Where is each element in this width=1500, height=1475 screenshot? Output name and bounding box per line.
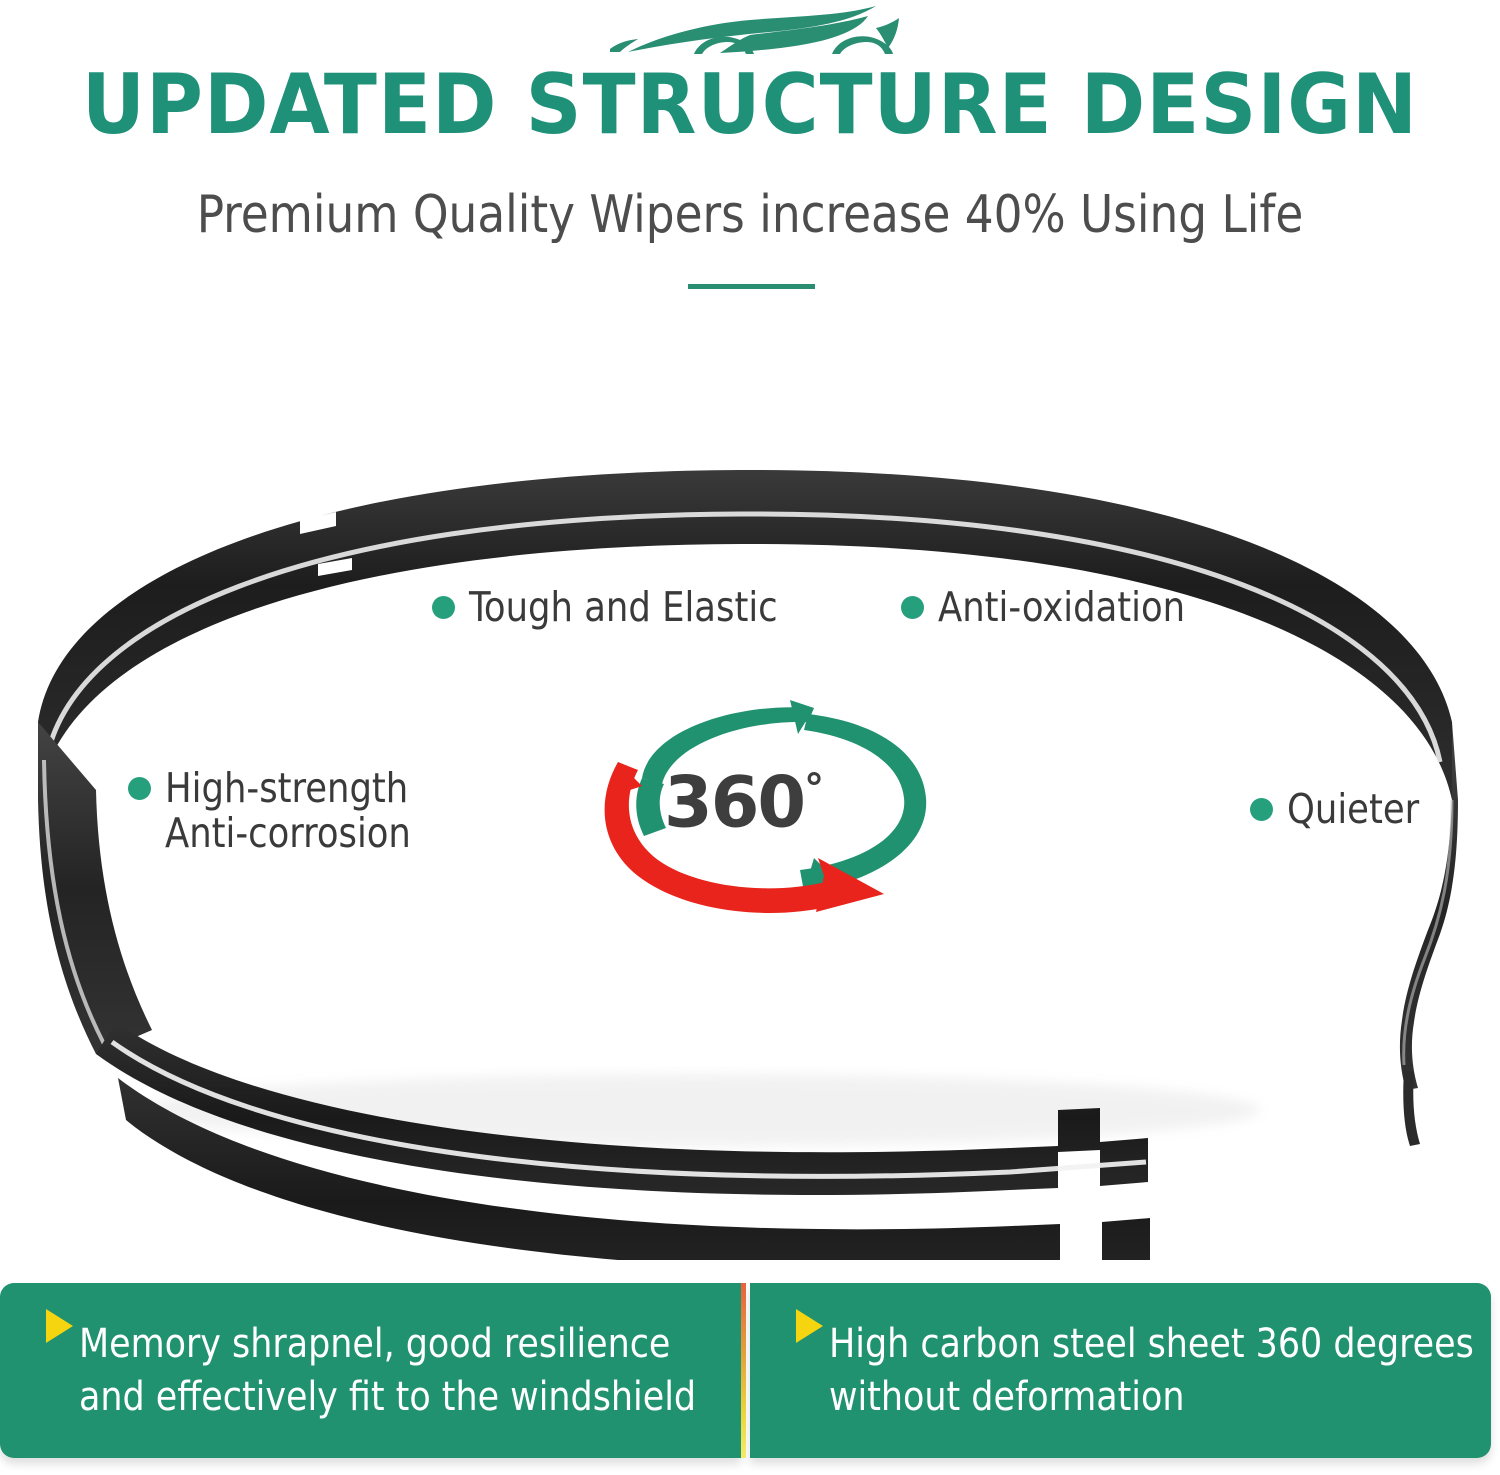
feature-line: Quieter [1287, 787, 1419, 832]
page-subtitle: Premium Quality Wipers increase 40% Usin… [23, 185, 1478, 245]
feature-label: Tough and Elastic [469, 585, 778, 630]
feature-label: Quieter [1287, 787, 1419, 832]
feature-label: Anti-oxidation [938, 585, 1185, 630]
title-divider-rule [688, 284, 815, 289]
feature-line: High-strength [165, 766, 411, 811]
badge-360-value: 360° [664, 754, 824, 837]
banner-text: High carbon steel sheet 360 degrees with… [829, 1318, 1474, 1424]
banner-line: without deformation [829, 1371, 1474, 1424]
banner-divider [741, 1283, 746, 1458]
banner-text: Memory shrapnel, good resilience and eff… [79, 1318, 696, 1424]
feature-line: Anti-oxidation [938, 585, 1185, 630]
banner-line: and effectively fit to the windshield [79, 1371, 696, 1424]
product-infographic: UPDATED STRUCTURE DESIGN Premium Quality… [0, 0, 1500, 1475]
triangle-right-icon [46, 1309, 73, 1343]
feature-callout-tough: Tough and Elastic [432, 585, 791, 630]
feature-callout-quieter: Quieter [1250, 787, 1425, 832]
feature-label: High-strength Anti-corrosion [165, 766, 411, 856]
car-silhouette-logo [600, 2, 900, 60]
banner-line: High carbon steel sheet 360 degrees [829, 1318, 1474, 1371]
bullet-dot-icon [128, 777, 151, 800]
bullet-dot-icon [1250, 798, 1273, 821]
page-title: UPDATED STRUCTURE DESIGN [0, 62, 1500, 148]
feature-line: Tough and Elastic [469, 585, 778, 630]
feature-callout-anti-oxidation: Anti-oxidation [901, 585, 1195, 630]
feature-callout-high-strength: High-strength Anti-corrosion [128, 766, 421, 856]
brand-logo [0, 2, 1500, 60]
badge-360: 360° [576, 700, 956, 930]
banner-memory-shrapnel: Memory shrapnel, good resilience and eff… [0, 1283, 741, 1458]
bullet-dot-icon [432, 596, 455, 619]
bullet-dot-icon [901, 596, 924, 619]
bottom-feature-banners: Memory shrapnel, good resilience and eff… [0, 1283, 1500, 1458]
triangle-right-icon [796, 1309, 823, 1343]
banner-line: Memory shrapnel, good resilience [79, 1318, 696, 1371]
feature-line: Anti-corrosion [165, 811, 411, 856]
banner-high-carbon-steel: High carbon steel sheet 360 degrees with… [750, 1283, 1491, 1458]
